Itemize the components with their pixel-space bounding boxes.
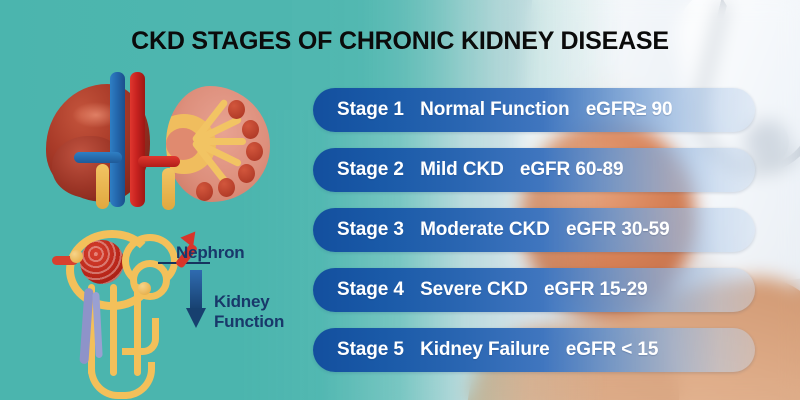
left-ureter — [96, 164, 109, 209]
renal-artery-branch — [138, 156, 180, 167]
tubule-node — [70, 250, 83, 263]
renal-pyramid — [218, 178, 235, 197]
stage-4-name: Severe CKD — [420, 279, 528, 300]
stage-1-egfr: eGFR≥ 90 — [586, 99, 673, 120]
stage-bar-2-text: Stage 2 Mild CKD eGFR 60-89 — [313, 159, 623, 181]
arrow-shaft — [190, 270, 202, 310]
stage-bar-5[interactable]: Stage 5 Kidney Failure eGFR < 15 — [313, 328, 755, 372]
stage-5-number: Stage 5 — [337, 339, 404, 360]
stage-bar-3[interactable]: Stage 3 Moderate CKD eGFR 30-59 — [313, 208, 755, 252]
renal-pyramid — [228, 100, 245, 119]
stage-3-name: Moderate CKD — [420, 219, 550, 240]
stage-4-number: Stage 4 — [337, 279, 404, 300]
right-kidney-cross-section-icon — [166, 86, 270, 202]
kidney-function-label-line2: Function — [214, 312, 284, 332]
glomerulus-icon — [80, 240, 124, 284]
decline-arrow-icon — [186, 270, 206, 330]
stage-3-egfr: eGFR 30-59 — [566, 219, 670, 240]
renal-pyramid — [246, 142, 263, 161]
kidney-function-label-line1: Kidney — [214, 292, 284, 312]
stage-bar-5-text: Stage 5 Kidney Failure eGFR < 15 — [313, 339, 658, 361]
stage-2-number: Stage 2 — [337, 159, 404, 180]
renal-pyramid — [242, 120, 259, 139]
infographic-canvas: CKD STAGES OF CHRONIC KIDNEY DISEASE — [0, 0, 800, 400]
stage-bar-3-text: Stage 3 Moderate CKD eGFR 30-59 — [313, 219, 670, 241]
stage-1-name: Normal Function — [420, 99, 569, 120]
right-ureter — [162, 168, 175, 210]
renal-artery — [130, 72, 145, 207]
stage-5-egfr: eGFR < 15 — [566, 339, 659, 360]
stage-1-number: Stage 1 — [337, 99, 404, 120]
renal-pyramid — [238, 164, 255, 183]
collecting-duct — [122, 318, 159, 355]
ckd-stage-list: Stage 1 Normal Function eGFR≥ 90 Stage 2… — [313, 88, 755, 388]
stage-4-egfr: eGFR 15-29 — [544, 279, 648, 300]
stage-bar-4[interactable]: Stage 4 Severe CKD eGFR 15-29 — [313, 268, 755, 312]
arrow-head — [186, 308, 206, 328]
stage-bar-1[interactable]: Stage 1 Normal Function eGFR≥ 90 — [313, 88, 755, 132]
kidney-function-label: Kidney Function — [214, 292, 284, 332]
renal-vein — [110, 72, 125, 207]
stage-2-egfr: eGFR 60-89 — [520, 159, 624, 180]
stage-5-name: Kidney Failure — [420, 339, 550, 360]
stage-2-name: Mild CKD — [420, 159, 504, 180]
nephron-label: Nephron — [176, 243, 244, 263]
tubule-node — [138, 282, 151, 295]
kidney-anatomy-illustration — [38, 72, 278, 207]
renal-pyramid — [196, 182, 213, 201]
page-title: CKD STAGES OF CHRONIC KIDNEY DISEASE — [0, 27, 800, 56]
stage-bar-4-text: Stage 4 Severe CKD eGFR 15-29 — [313, 279, 648, 301]
stage-bar-2[interactable]: Stage 2 Mild CKD eGFR 60-89 — [313, 148, 755, 192]
stage-bar-1-text: Stage 1 Normal Function eGFR≥ 90 — [313, 99, 672, 121]
renal-vein-branch — [74, 152, 122, 163]
stage-3-number: Stage 3 — [337, 219, 404, 240]
